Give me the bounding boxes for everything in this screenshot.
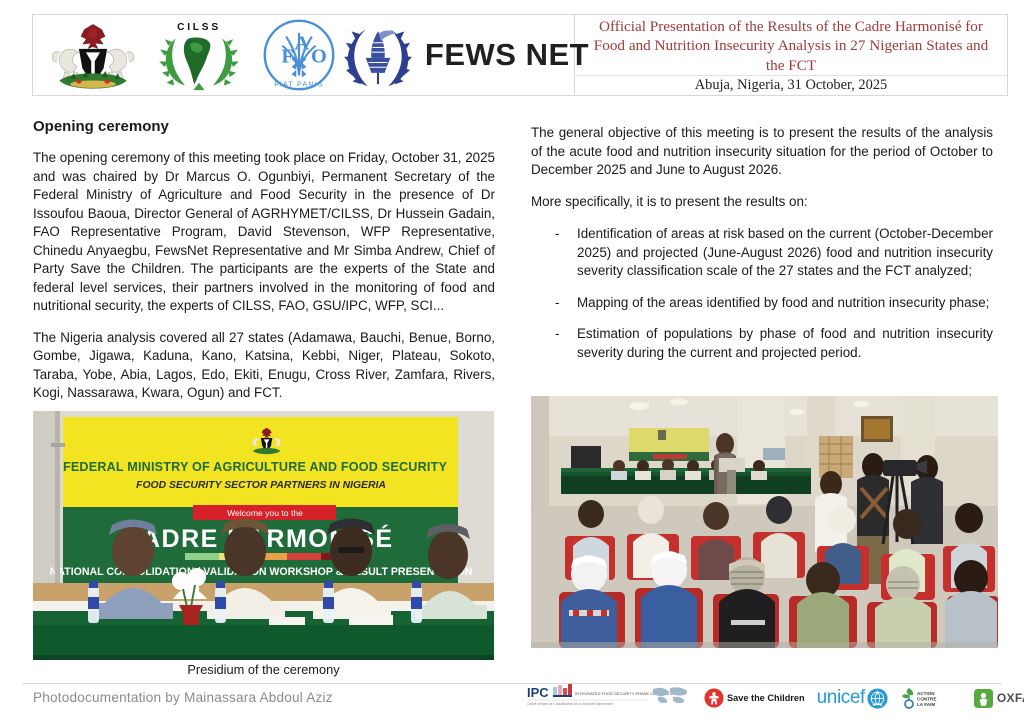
svg-text:NATIONAL CONSOLIDATION / VALID: NATIONAL CONSOLIDATION / VALIDATION WORK…	[50, 566, 473, 578]
svg-text:CILSS: CILSS	[177, 22, 221, 33]
list-item: - Mapping of the areas identified by foo…	[531, 294, 993, 313]
svg-text:A: A	[294, 32, 309, 54]
svg-text:IPC: IPC	[527, 685, 549, 700]
fao-logo: F A O FIAT PANIS	[251, 18, 347, 92]
objectives-list: - Identification of areas at risk based …	[531, 225, 993, 362]
presidium-photo-caption: Presidium of the ceremony	[33, 662, 494, 677]
footer-logo-strip: IPC INTEGRATED FOOD SECURITY PHASE CLASS…	[527, 681, 1007, 715]
cilss-logo: CILSS	[147, 18, 251, 92]
list-item: - Estimation of populations by phase of …	[531, 325, 993, 362]
svg-text:LA FAIM: LA FAIM	[917, 702, 935, 707]
svg-text:ACTION: ACTION	[917, 691, 935, 696]
svg-text:F: F	[281, 45, 293, 67]
presentation-location-date: Abuja, Nigeria, 31 October, 2025	[575, 76, 1007, 95]
list-item: - Identification of areas at risk based …	[531, 225, 993, 281]
list-item-text: Mapping of the areas identified by food …	[577, 295, 989, 310]
action-contre-la-faim-logo: ACTION CONTRE LA FAIM	[900, 686, 962, 710]
footer-credit: Photodocumentation by Mainassara Abdoul …	[33, 690, 333, 705]
right-paragraph-2: More specifically, it is to present the …	[531, 193, 993, 212]
svg-text:FOOD SECURITY SECTOR PARTNERS: FOOD SECURITY SECTOR PARTNERS IN NIGERIA	[136, 480, 386, 491]
ipc-logo: IPC INTEGRATED FOOD SECURITY PHASE CLASS…	[527, 683, 692, 713]
presentation-title: Official Presentation of the Results of …	[575, 15, 1007, 76]
list-item-text: Identification of areas at risk based on…	[577, 226, 993, 278]
document-page: CILSS	[0, 0, 1024, 724]
bullet-dash: -	[555, 225, 559, 244]
oxfam-wordmark: OXFAM	[997, 691, 1024, 705]
fewsnet-logo: FEWS NET	[347, 19, 573, 91]
right-column: The general objective of this meeting is…	[531, 124, 993, 362]
header-logo-strip: CILSS	[33, 15, 575, 95]
oxfam-logo: OXFAM	[974, 687, 1024, 709]
unicef-wordmark: unicef	[817, 687, 865, 709]
fewsnet-wordmark: FEWS NET	[425, 37, 589, 73]
svg-text:O: O	[311, 45, 327, 67]
svg-text:FIAT PANIS: FIAT PANIS	[274, 81, 324, 88]
right-paragraph-1: The general objective of this meeting is…	[531, 124, 993, 180]
left-paragraph-1: The opening ceremony of this meeting too…	[33, 149, 495, 316]
page-title: Opening ceremony	[33, 118, 495, 135]
svg-text:Welcome you to the: Welcome you to the	[227, 508, 303, 518]
list-item-text: Estimation of populations by phase of fo…	[577, 326, 993, 360]
left-column: Opening ceremony The opening ceremony of…	[33, 118, 495, 403]
bullet-dash: -	[555, 294, 559, 313]
bullet-dash: -	[555, 325, 559, 344]
header-title-block: Official Presentation of the Results of …	[575, 15, 1007, 95]
unicef-logo: unicef	[817, 686, 888, 710]
document-header: CILSS	[32, 14, 1008, 96]
save-the-children-logo: Save the Children	[704, 687, 805, 709]
audience-photo	[531, 396, 998, 648]
presidium-photo: FEDERAL MINISTRY OF AGRICULTURE AND FOOD…	[33, 411, 494, 660]
save-the-children-wordmark: Save the Children	[727, 693, 805, 703]
nigeria-coat-of-arms-logo	[39, 17, 147, 93]
svg-text:CONTRE: CONTRE	[917, 697, 936, 702]
svg-text:Cadre Intégré de Classificatio: Cadre Intégré de Classification de la Sé…	[527, 702, 613, 706]
svg-text:FEDERAL MINISTRY OF AGRICULTUR: FEDERAL MINISTRY OF AGRICULTURE AND FOOD…	[63, 460, 448, 474]
left-paragraph-2: The Nigeria analysis covered all 27 stat…	[33, 329, 495, 403]
